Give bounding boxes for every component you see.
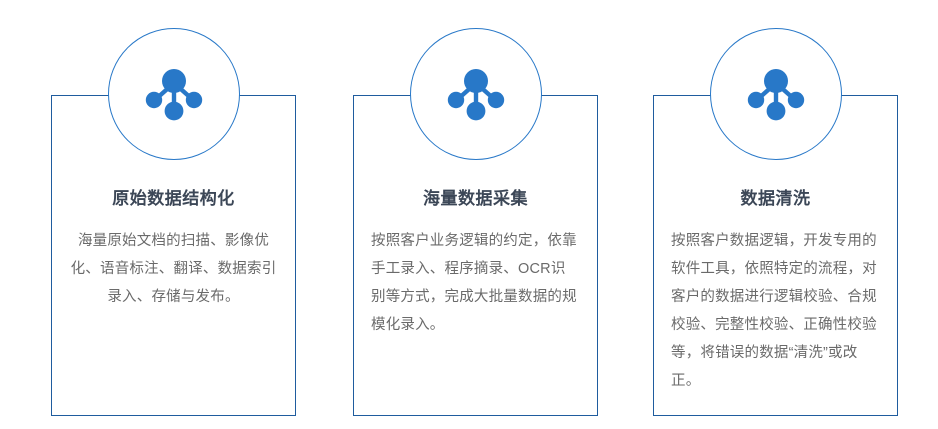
network-hub-icon [745, 66, 807, 122]
icon-circle-badge-3 [710, 28, 842, 160]
icon-circle-badge-1 [108, 28, 240, 160]
card-border-bottom [51, 415, 296, 416]
card-body: 海量原始文档的扫描、影像优化、语音标注、翻译、数据索引录入、存储与发布。 [69, 227, 278, 311]
card-title: 数据清洗 [653, 189, 898, 209]
card-title: 海量数据采集 [353, 189, 598, 209]
network-hub-icon [445, 66, 507, 122]
card-border-left [51, 95, 52, 416]
card-body: 按照客户数据逻辑，开发专用的软件工具，依照特定的流程，对客户的数据进行逻辑校验、… [671, 227, 880, 395]
card-border-right [597, 95, 598, 416]
feature-cards-section: 原始数据结构化 海量原始文档的扫描、影像优化、语音标注、翻译、数据索引录入、存储… [0, 0, 938, 429]
card-border-bottom [353, 415, 598, 416]
card-border-left [353, 95, 354, 416]
feature-card-1[interactable]: 原始数据结构化 海量原始文档的扫描、影像优化、语音标注、翻译、数据索引录入、存储… [51, 95, 296, 416]
feature-card-3[interactable]: 数据清洗 按照客户数据逻辑，开发专用的软件工具，依照特定的流程，对客户的数据进行… [653, 95, 898, 416]
card-border-right [897, 95, 898, 416]
card-title: 原始数据结构化 [51, 189, 296, 209]
icon-circle-badge-2 [410, 28, 542, 160]
card-body: 按照客户业务逻辑的约定，依靠手工录入、程序摘录、OCR识别等方式，完成大批量数据… [371, 227, 580, 339]
card-border-right [295, 95, 296, 416]
card-border-bottom [653, 415, 898, 416]
feature-card-2[interactable]: 海量数据采集 按照客户业务逻辑的约定，依靠手工录入、程序摘录、OCR识别等方式，… [353, 95, 598, 416]
card-border-left [653, 95, 654, 416]
network-hub-icon [143, 66, 205, 122]
